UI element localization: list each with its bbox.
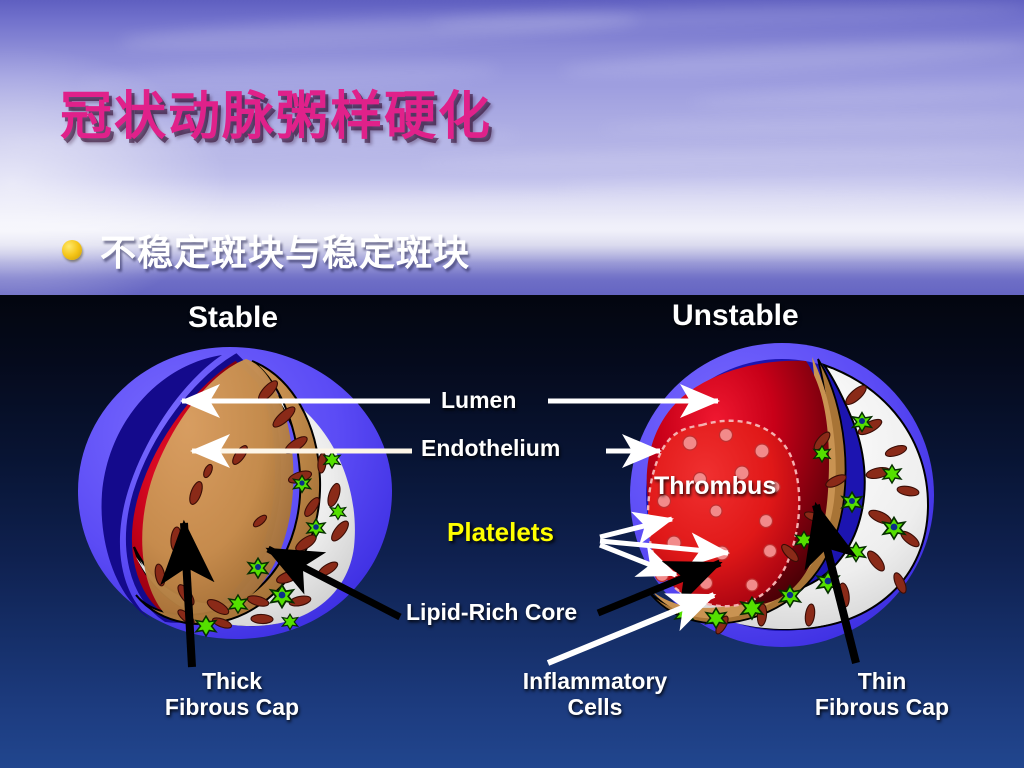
cloud-streak (560, 36, 1024, 83)
label-line-1: Thin (782, 669, 982, 695)
label-platelets: Platelets (447, 518, 554, 547)
label-thrombus: Thrombus (654, 472, 776, 500)
label-endothelium: Endothelium (421, 436, 560, 462)
label-thin-fibrous-cap: Thin Fibrous Cap (782, 669, 982, 721)
cloud-streak (690, 82, 1024, 111)
label-lipid-rich-core: Lipid-Rich Core (406, 600, 577, 626)
label-line-2: Fibrous Cap (782, 695, 982, 721)
label-line-2: Fibrous Cap (142, 695, 322, 721)
slide-title: 冠状动脉粥样硬化 (60, 74, 492, 149)
heading-stable: Stable (188, 301, 278, 335)
cloud-streak (420, 145, 1024, 172)
heading-unstable: Unstable (672, 299, 799, 333)
thrombus-unstable (648, 421, 799, 606)
label-thick-fibrous-cap: Thick Fibrous Cap (142, 669, 322, 721)
bullet-item-label: 不稳定斑块与稳定斑块 (100, 224, 470, 276)
bullet-dot-icon (62, 240, 82, 260)
label-line-1: Thick (142, 669, 322, 695)
bullet-item: 不稳定斑块与稳定斑块 (62, 224, 470, 276)
label-lumen: Lumen (441, 388, 516, 414)
label-line-1: Inflammatory (490, 669, 700, 695)
presentation-slide: 冠状动脉粥样硬化 不稳定斑块与稳定斑块 (0, 0, 1024, 768)
cloud-streak (600, 114, 1024, 136)
label-inflammatory-cells: Inflammatory Cells (490, 669, 700, 721)
label-line-2: Cells (490, 695, 700, 721)
atherosclerosis-diagram: Stable Unstable Lumen Endothelium Platel… (0, 295, 1024, 768)
